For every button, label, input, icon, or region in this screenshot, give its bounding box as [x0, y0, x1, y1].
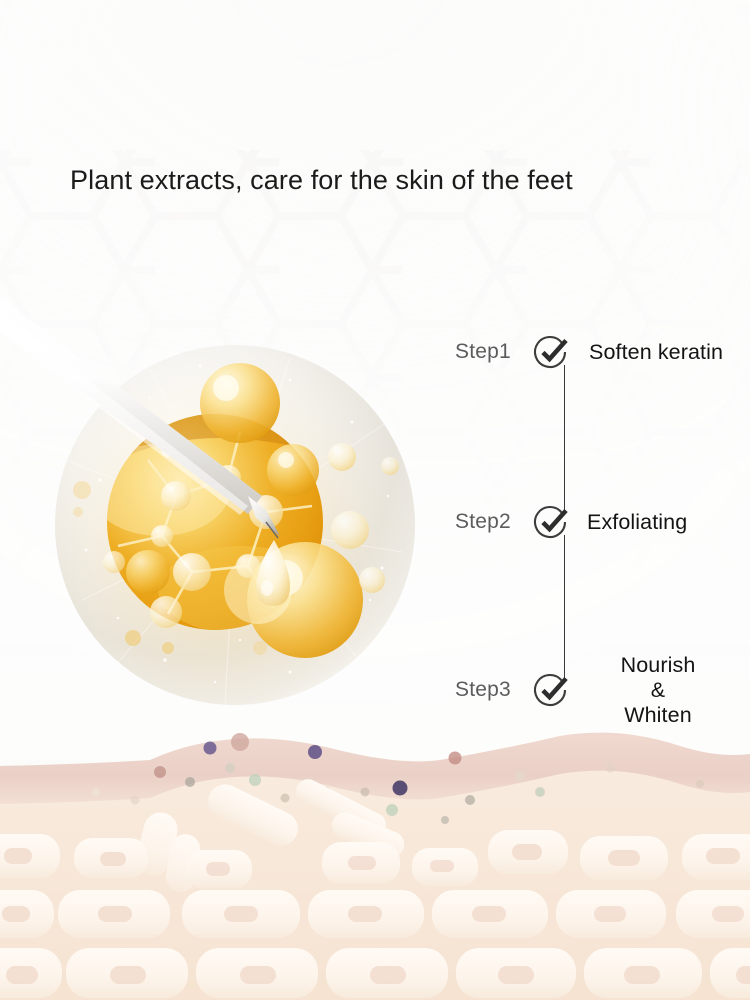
page-title: Plant extracts, care for the skin of the… [70, 160, 690, 200]
poster-canvas: Plant extracts, care for the skin of the… [0, 0, 750, 1000]
check-circle-icon [531, 670, 571, 710]
step-connector-2 [564, 535, 565, 680]
step-number-label: Step3 [455, 678, 527, 702]
step-description: Soften keratin [589, 340, 723, 365]
step-description: Exfoliating [587, 510, 687, 535]
step-number-label: Step2 [455, 510, 527, 534]
step-item-1[interactable]: Step1 Soften keratin [455, 324, 723, 380]
check-circle-icon [531, 502, 571, 542]
step-connector-1 [564, 365, 565, 510]
cell-rows [0, 830, 750, 998]
step-item-3[interactable]: Step3 Nourish & Whiten [455, 662, 733, 718]
skin-layer-illustration [0, 730, 750, 1000]
step-item-2[interactable]: Step2 Exfoliating [455, 494, 687, 550]
serum-droplet-sphere [0, 300, 460, 750]
steps-list: Step1 Soften keratin Step2 Exfoliating S… [455, 310, 750, 760]
check-circle-icon [531, 332, 571, 372]
step-number-label: Step1 [455, 340, 527, 364]
step-description: Nourish & Whiten [583, 653, 733, 728]
